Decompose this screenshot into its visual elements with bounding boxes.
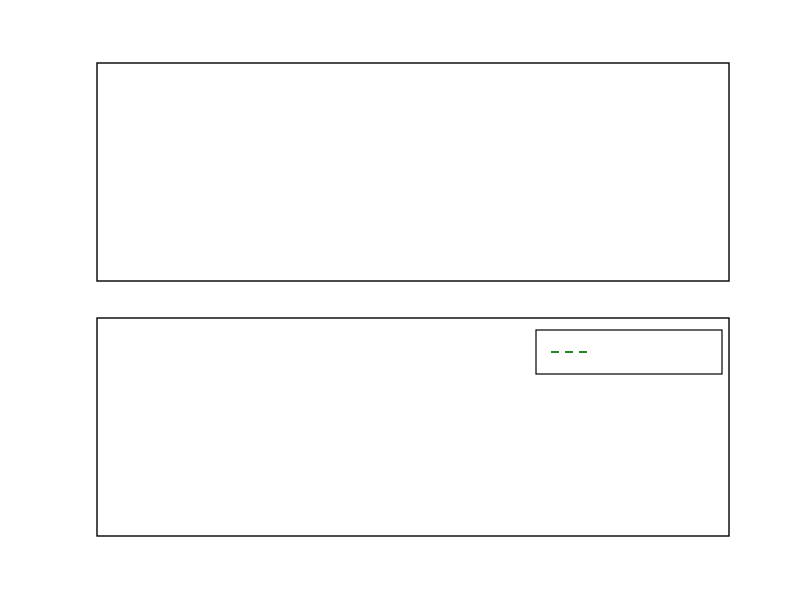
figure-canvas [0, 0, 800, 600]
figure-background [0, 0, 800, 600]
legend [536, 330, 722, 374]
legend-frame [536, 330, 722, 374]
matplotlib-figure [0, 0, 800, 600]
